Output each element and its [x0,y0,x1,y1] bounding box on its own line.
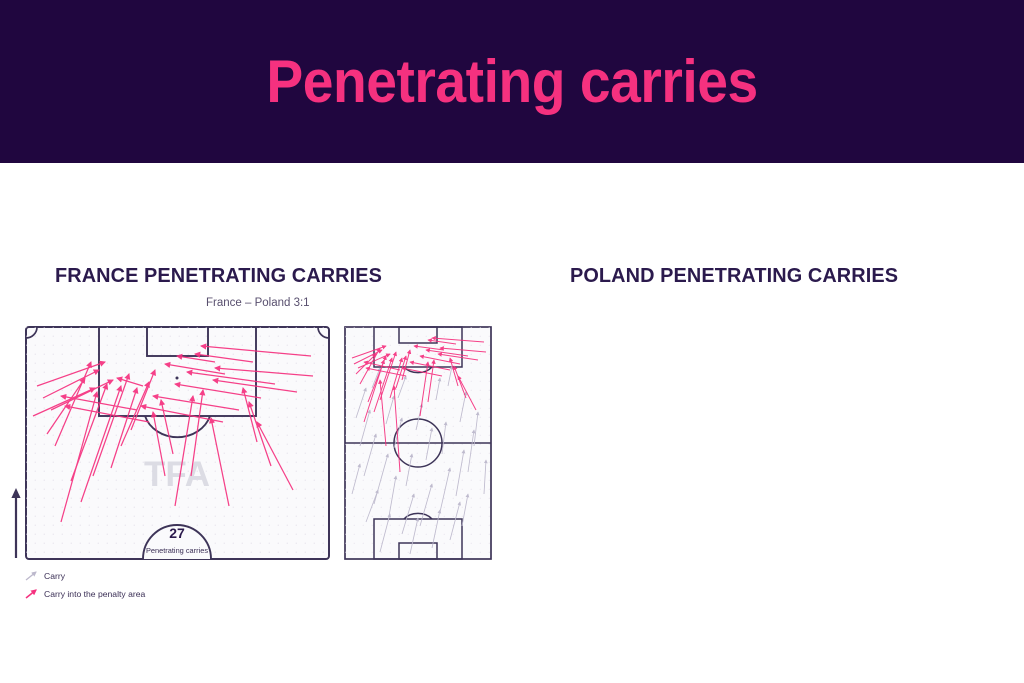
legend-item-carry-penalty: Carry into the penalty area [24,585,145,602]
panel-subtitle-france: France – Poland 3:1 [206,297,310,309]
panel-france: FRANCE PENETRATING CARRIES France – Pola… [0,163,512,683]
page-header: Penetrating carries [0,0,1024,163]
legend-item-carry: Carry [24,567,145,584]
full-pitch-inset-france [344,326,492,560]
page-title: Penetrating carries [266,47,757,116]
carry-arrow-icon [24,569,40,582]
panel-title-france: FRANCE PENETRATING CARRIES [55,264,382,288]
carry-penalty-arrow-icon [24,587,40,600]
legend-france: Carry Carry into the penalty area [24,567,145,603]
panel-title-poland: POLAND PENETRATING CARRIES [570,264,898,288]
panel-poland: POLAND PENETRATING CARRIES France – Pola… [512,163,1024,683]
direction-of-play-arrow-france [8,488,24,558]
watermark-france: TFA [144,455,210,494]
legend-label-carry-penalty: Carry into the penalty area [44,589,145,599]
half-pitch-france: TFA [25,326,330,560]
legend-label-carry: Carry [44,571,65,581]
